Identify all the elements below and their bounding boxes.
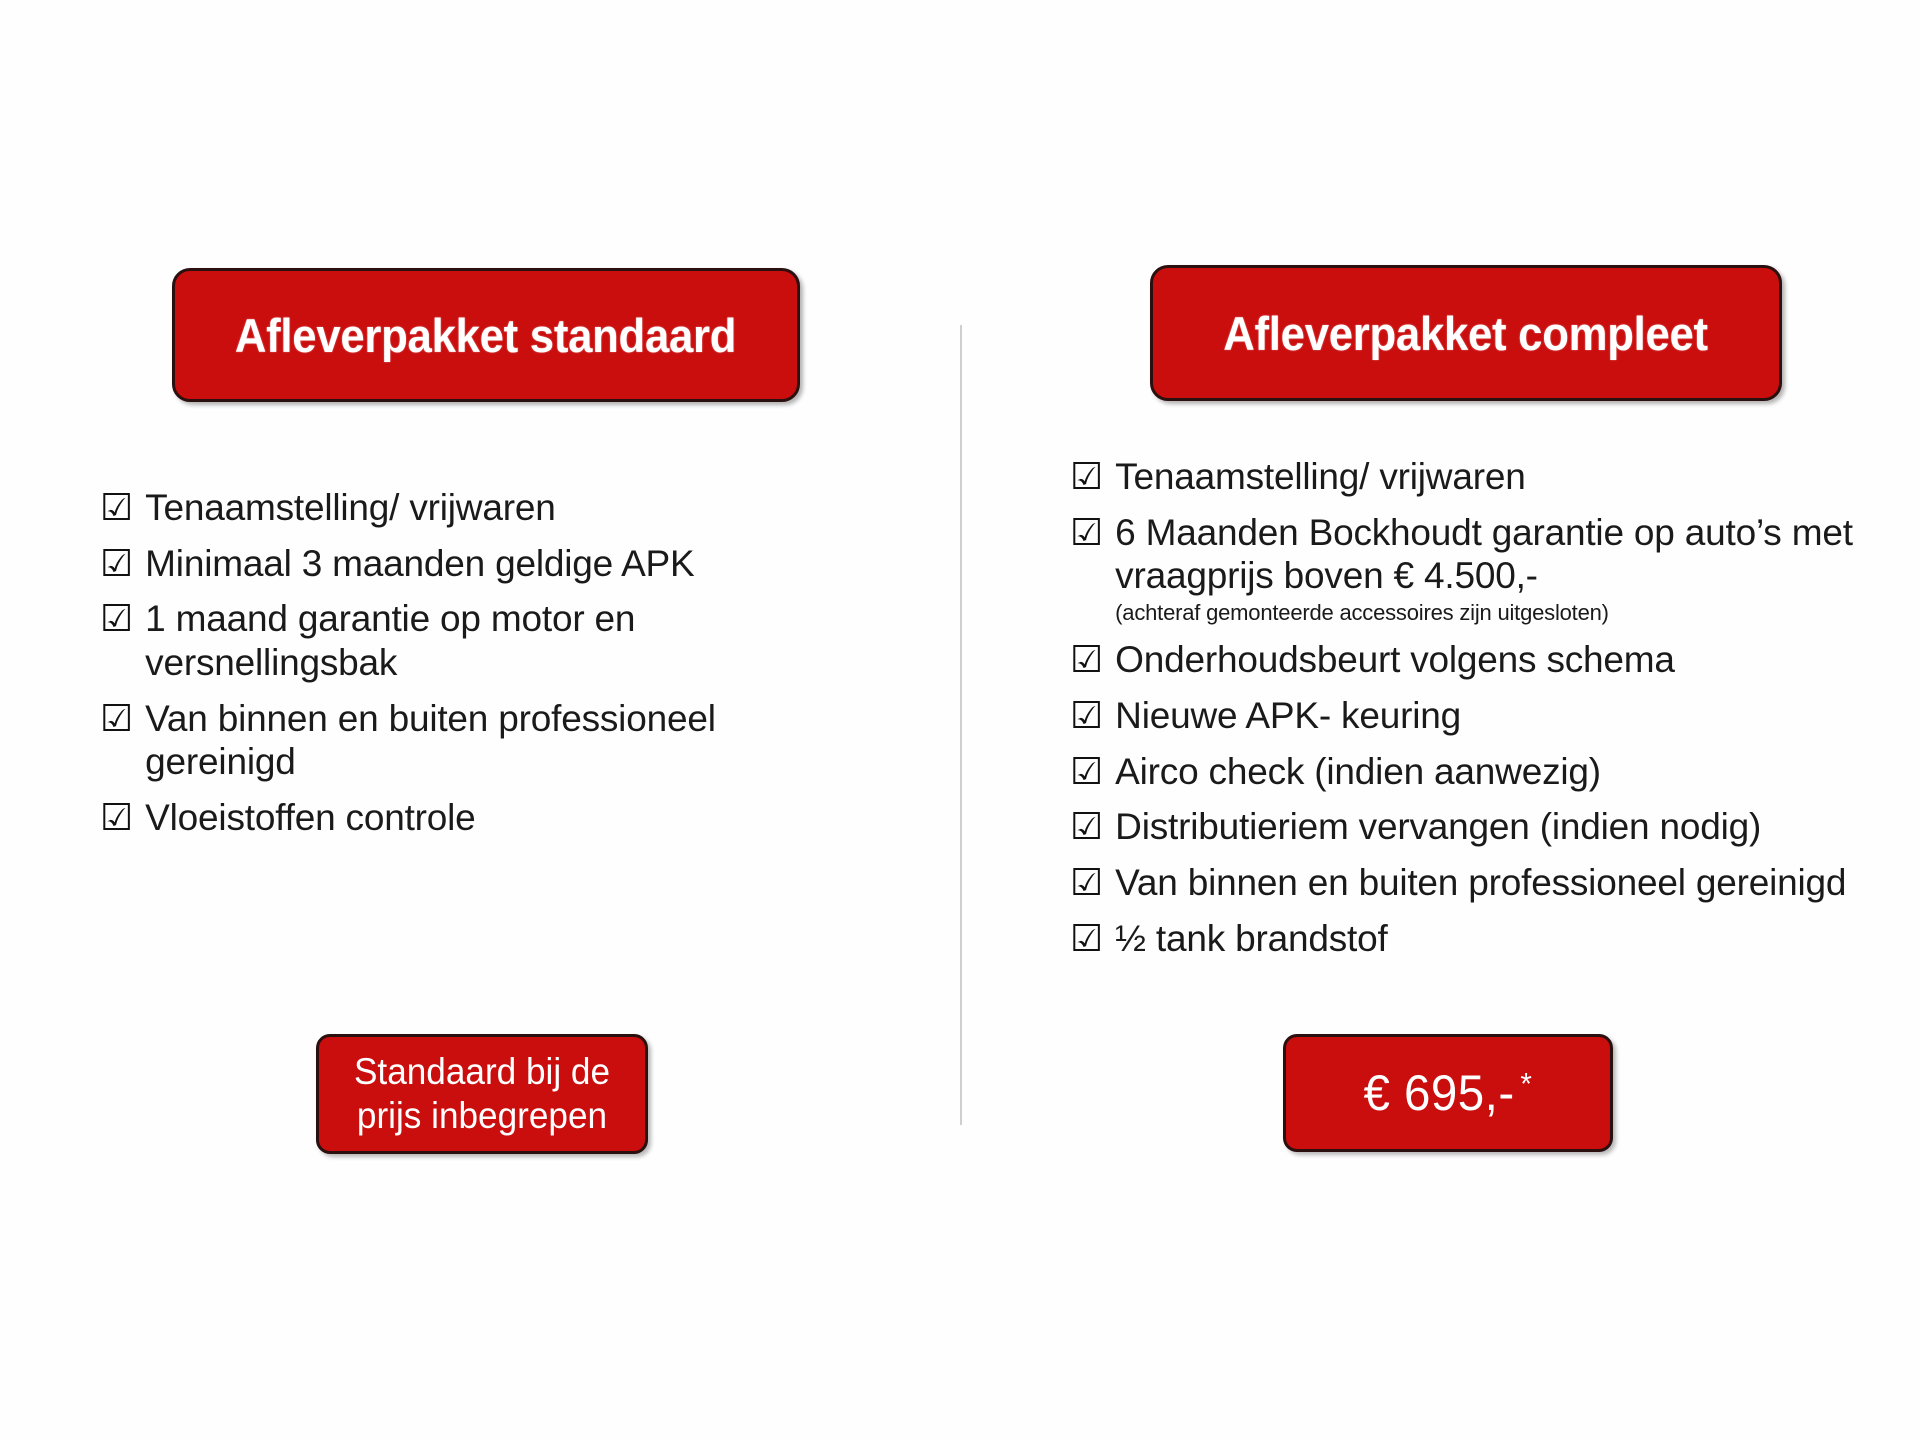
- package-title-compleet: Afleverpakket compleet: [1224, 306, 1709, 361]
- list-item-label: Tenaamstelling/ vrijwaren: [1115, 455, 1525, 499]
- list-item-label: Nieuwe APK- keuring: [1115, 694, 1461, 738]
- price-pill-label-compleet: € 695,-*: [1364, 1064, 1533, 1123]
- checkbox-checked-icon: ☑: [1070, 694, 1103, 738]
- list-item-label: Airco check (indien aanwezig): [1115, 750, 1601, 794]
- package-title-banner-compleet: Afleverpakket compleet: [1150, 265, 1782, 401]
- checkbox-checked-icon: ☑: [1070, 638, 1103, 682]
- list-item: ☑ Van binnen en buiten professioneel ger…: [1070, 861, 1890, 905]
- price-pill-compleet: € 695,-*: [1283, 1034, 1613, 1152]
- column-divider: [960, 325, 962, 1125]
- list-item: ☑ Tenaamstelling/ vrijwaren: [1070, 455, 1890, 499]
- checkbox-checked-icon: ☑: [100, 486, 133, 530]
- list-item-label: Minimaal 3 maanden geldige APK: [145, 542, 694, 586]
- list-item: ☑ Tenaamstelling/ vrijwaren: [100, 486, 860, 530]
- checkbox-checked-icon: ☑: [100, 697, 133, 741]
- price-amount: € 695,-: [1364, 1065, 1515, 1121]
- list-item-label: Onderhoudsbeurt volgens schema: [1115, 638, 1675, 682]
- list-item-label: Tenaamstelling/ vrijwaren: [145, 486, 555, 530]
- list-item: ☑ 6 Maanden Bockhoudt garantie op auto’s…: [1070, 511, 1890, 627]
- package-title-banner-standaard: Afleverpakket standaard: [172, 268, 800, 402]
- checkbox-checked-icon: ☑: [1070, 455, 1103, 499]
- price-asterisk: *: [1520, 1066, 1532, 1101]
- list-item: ☑ Minimaal 3 maanden geldige APK: [100, 542, 860, 586]
- slide-canvas: Afleverpakket standaard ☑ Tenaamstelling…: [0, 0, 1920, 1440]
- checkbox-checked-icon: ☑: [100, 597, 133, 641]
- checkbox-checked-icon: ☑: [1070, 805, 1103, 849]
- price-pill-standaard: Standaard bij de prijs inbegrepen: [316, 1034, 648, 1154]
- list-item: ☑ Nieuwe APK- keuring: [1070, 694, 1890, 738]
- list-item-label: ½ tank brandstof: [1115, 917, 1387, 961]
- list-item: ☑ Onderhoudsbeurt volgens schema: [1070, 638, 1890, 682]
- list-item-text: 6 Maanden Bockhoudt garantie op auto’s m…: [1115, 512, 1853, 597]
- feature-list-compleet: ☑ Tenaamstelling/ vrijwaren ☑ 6 Maanden …: [1070, 455, 1890, 972]
- list-item: ☑ 1 maand garantie op motor en versnelli…: [100, 597, 860, 684]
- list-item-label: 6 Maanden Bockhoudt garantie op auto’s m…: [1115, 511, 1890, 627]
- list-item-label: Van binnen en buiten professioneel gerei…: [145, 697, 860, 784]
- list-item: ☑ Van binnen en buiten professioneel ger…: [100, 697, 860, 784]
- list-item-label: Vloeistoffen controle: [145, 796, 475, 840]
- list-item-note: (achteraf gemonteerde accessoires zijn u…: [1115, 599, 1890, 627]
- list-item: ☑ ½ tank brandstof: [1070, 917, 1890, 961]
- list-item: ☑ Distributieriem vervangen (indien nodi…: [1070, 805, 1890, 849]
- checkbox-checked-icon: ☑: [1070, 750, 1103, 794]
- checkbox-checked-icon: ☑: [100, 796, 133, 840]
- list-item-label: 1 maand garantie op motor en versnelling…: [145, 597, 860, 684]
- package-title-standaard: Afleverpakket standaard: [235, 308, 736, 363]
- checkbox-checked-icon: ☑: [1070, 861, 1103, 905]
- list-item: ☑ Airco check (indien aanwezig): [1070, 750, 1890, 794]
- price-pill-label-standaard: Standaard bij de prijs inbegrepen: [327, 1050, 637, 1137]
- list-item-label: Distributieriem vervangen (indien nodig): [1115, 805, 1761, 849]
- feature-list-standaard: ☑ Tenaamstelling/ vrijwaren ☑ Minimaal 3…: [100, 486, 860, 852]
- checkbox-checked-icon: ☑: [1070, 917, 1103, 961]
- list-item: ☑ Vloeistoffen controle: [100, 796, 860, 840]
- list-item-label: Van binnen en buiten professioneel gerei…: [1115, 861, 1846, 905]
- checkbox-checked-icon: ☑: [100, 542, 133, 586]
- checkbox-checked-icon: ☑: [1070, 511, 1103, 555]
